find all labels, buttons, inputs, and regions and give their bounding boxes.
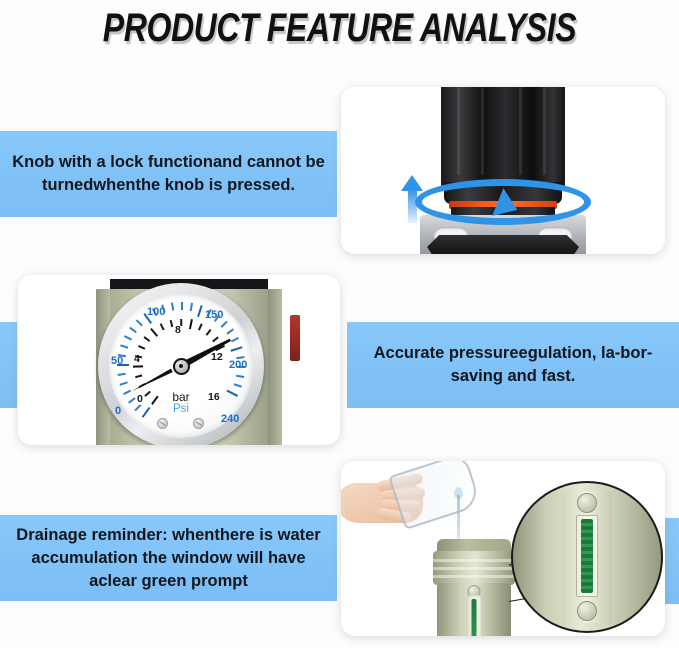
- page-title: PRODUCT FEATURE ANALYSIS: [68, 2, 611, 58]
- caption-text: Drainage reminder: whenthere is water ac…: [0, 524, 337, 593]
- green-level-indicator: [472, 599, 477, 636]
- feature-image-knob-lock: [341, 87, 665, 254]
- accent-sliver-left: [0, 322, 17, 408]
- pressure-gauge-bezel: 0 50 100 150 200 240 0 4 8 12 16 bar Psi: [98, 283, 264, 445]
- gauge-screw-right: [193, 418, 204, 429]
- gauge-psi-label-150: 150: [205, 310, 223, 321]
- regulator-red-marker: [290, 315, 300, 361]
- knob-scene: [341, 87, 665, 254]
- water-glass: [388, 461, 481, 530]
- feature-image-drainage-window: [341, 461, 665, 636]
- gauge-bar-label-12: 12: [211, 352, 223, 363]
- gauge-unit-psi: Psi: [173, 403, 189, 415]
- up-arrow-icon: [401, 175, 423, 223]
- gauge-bar-label-4: 4: [134, 354, 140, 365]
- gauge-bar-label-16: 16: [208, 392, 220, 403]
- hex-nut-base: [427, 235, 579, 254]
- drainage-scene: [341, 461, 665, 636]
- gauge-face: 0 50 100 150 200 240 0 4 8 12 16 bar Psi: [109, 294, 253, 438]
- regulator-side-right: [268, 289, 282, 445]
- feature-caption-knob-lock: Knob with a lock functionand cannot be t…: [0, 131, 337, 217]
- gauge-bar-label-0: 0: [137, 394, 143, 405]
- gauge-psi-label-240: 240: [221, 414, 239, 425]
- magnifier-callout: [511, 481, 663, 633]
- knob-body: [441, 87, 565, 189]
- caption-text: Accurate pressureegulation, la-bor-savin…: [347, 342, 679, 388]
- gauge-screw-left: [157, 418, 168, 429]
- feature-caption-pressure-gauge: Accurate pressureegulation, la-bor-savin…: [347, 322, 679, 408]
- magnified-green-indicator: [581, 519, 593, 593]
- gauge-psi-label-200: 200: [229, 360, 247, 371]
- gauge-psi-label-0: 0: [115, 406, 121, 417]
- filter-bowl: [431, 539, 517, 636]
- gauge-psi-label-50: 50: [111, 356, 123, 367]
- infographic-page: PRODUCT FEATURE ANALYSIS Knob with a loc…: [0, 0, 679, 648]
- gauge-unit-bar: bar: [172, 390, 189, 404]
- magnified-screw-top: [577, 493, 597, 513]
- feature-caption-drainage-window: Drainage reminder: whenthere is water ac…: [0, 515, 337, 601]
- accent-sliver-right: [663, 518, 679, 604]
- magnified-screw-bottom: [577, 601, 597, 621]
- gauge-psi-label-100: 100: [147, 307, 165, 318]
- gauge-bar-label-8: 8: [175, 325, 181, 336]
- caption-text: Knob with a lock functionand cannot be t…: [0, 151, 337, 197]
- gauge-hub: [173, 358, 190, 375]
- feature-image-pressure-gauge: 0 50 100 150 200 240 0 4 8 12 16 bar Psi: [18, 275, 340, 445]
- gauge-scene: 0 50 100 150 200 240 0 4 8 12 16 bar Psi: [18, 275, 340, 445]
